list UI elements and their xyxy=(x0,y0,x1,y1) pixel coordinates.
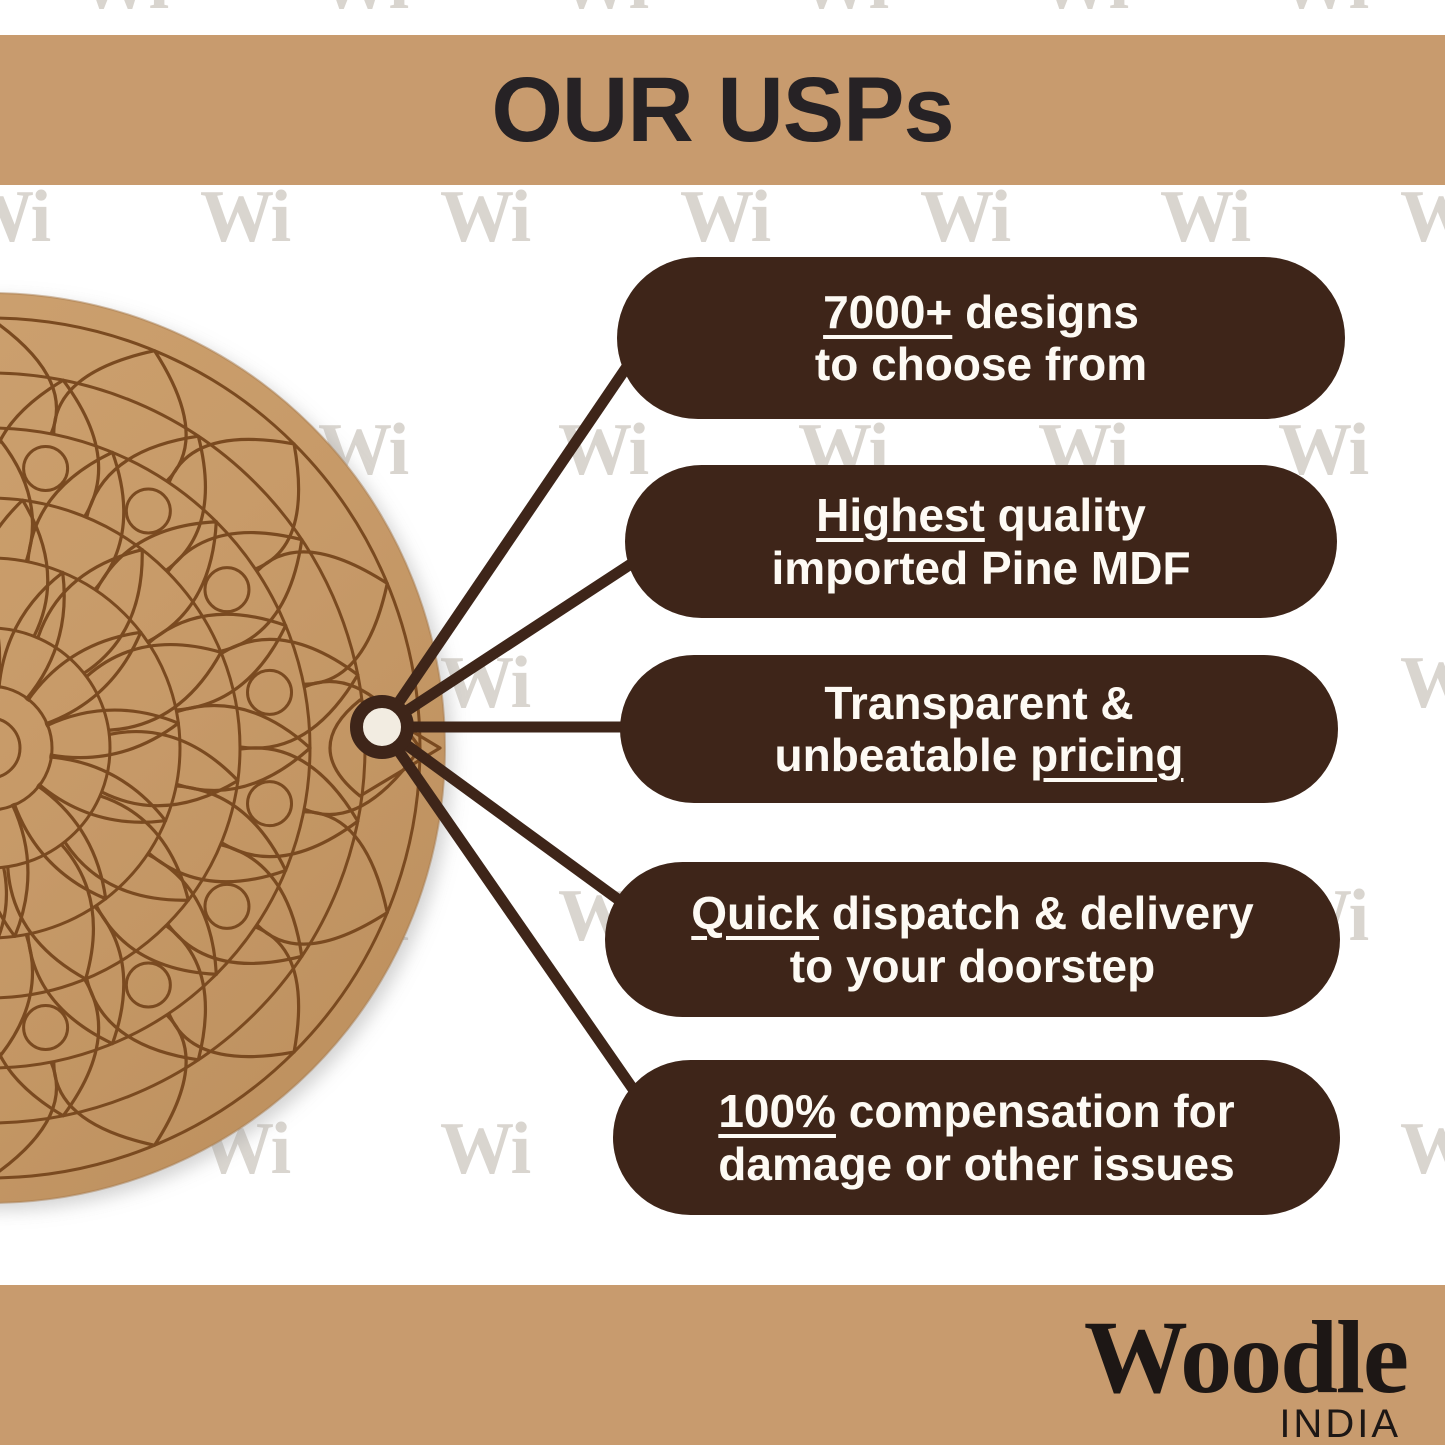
usp-line-2: unbeatable pricing xyxy=(775,729,1184,781)
usp-highlight: Quick xyxy=(691,887,819,939)
usp-line-1: Transparent & xyxy=(824,677,1133,729)
usp-line-2: to your doorstep xyxy=(790,940,1155,992)
connector-line-1 xyxy=(382,318,660,727)
usp-pill-material-quality[interactable]: Highest quality imported Pine MDF xyxy=(625,465,1337,618)
connector-line-2 xyxy=(382,545,660,727)
usp-line-1: Highest quality xyxy=(816,489,1146,541)
hub-node xyxy=(350,695,414,759)
brand-logo: Woodle INDIA xyxy=(987,1300,1407,1440)
usp-line-2: to choose from xyxy=(815,338,1147,390)
page-title: OUR USPs xyxy=(0,35,1445,185)
usp-line-2: damage or other issues xyxy=(718,1138,1234,1190)
usp-rest: designs xyxy=(952,286,1139,338)
usp-rest: quality xyxy=(985,489,1146,541)
usp-pill-designs-count[interactable]: 7000+ designs to choose from xyxy=(617,257,1345,419)
brand-name: Woodle xyxy=(987,1306,1407,1410)
usp-rest: compensation for xyxy=(836,1085,1235,1137)
usp-rest: damage or other issues xyxy=(718,1138,1234,1190)
usp-line-1: 100% compensation for xyxy=(718,1085,1234,1137)
usp-highlight: 7000+ xyxy=(823,286,952,338)
usp-line-2: imported Pine MDF xyxy=(771,542,1190,594)
usp-highlight: Highest xyxy=(816,489,985,541)
usp-line-1: Quick dispatch & delivery xyxy=(691,887,1253,939)
usp-rest: imported Pine MDF xyxy=(771,542,1190,594)
usp-line-1: 7000+ designs xyxy=(823,286,1139,338)
usp-rest: dispatch & delivery xyxy=(819,887,1254,939)
usp-pill-dispatch-delivery[interactable]: Quick dispatch & delivery to your doorst… xyxy=(605,862,1340,1017)
usp-rest: to your doorstep xyxy=(790,940,1155,992)
usp-highlight: 100% xyxy=(718,1085,836,1137)
usp-pill-pricing[interactable]: Transparent & unbeatable pricing xyxy=(620,655,1338,803)
usp-rest: unbeatable xyxy=(775,729,1031,781)
usp-pill-compensation[interactable]: 100% compensation for damage or other is… xyxy=(613,1060,1340,1215)
usp-highlight: pricing xyxy=(1030,729,1183,781)
usp-rest: Transparent & xyxy=(824,677,1133,729)
usp-infographic: WiWiWiWiWiWiWiWiWiWiWiWiWiWiWiWiWiWiWiWi… xyxy=(0,0,1445,1445)
usp-rest: to choose from xyxy=(815,338,1147,390)
